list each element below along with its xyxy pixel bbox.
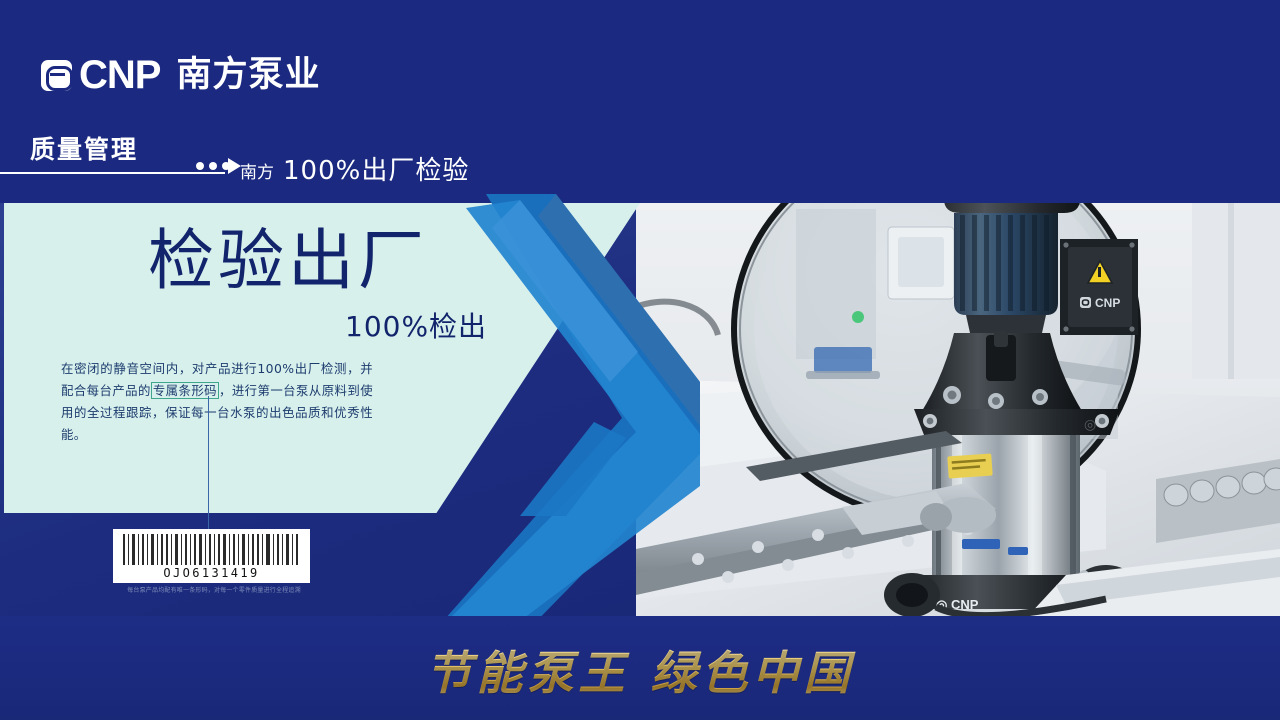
header-kicker: 100%出厂检验 xyxy=(283,150,469,187)
page-title: 检验出厂 xyxy=(148,228,428,294)
section-title: 质量管理 xyxy=(30,130,138,166)
barcode-bars-icon xyxy=(121,534,302,565)
brand-logo[interactable]: CNP 南方泵业 xyxy=(41,55,320,95)
svg-text:CNP: CNP xyxy=(1095,296,1120,310)
brand-latin-name: CNP xyxy=(79,55,160,95)
cnp-logo-icon xyxy=(41,60,72,91)
three-dots-icon xyxy=(196,162,230,170)
callout-connector-line xyxy=(208,396,209,533)
header-divider xyxy=(0,172,225,174)
barcode-number: OJO6131419 xyxy=(121,566,302,580)
brand-chinese-name: 南方泵业 xyxy=(176,58,320,93)
body-paragraph: 在密闭的静音空间内，对产品进行100%出厂检测，并配合每台产品的专属条形码，进行… xyxy=(61,358,373,446)
svg-text:◎: ◎ xyxy=(1084,416,1096,432)
barcode-card: OJO6131419 xyxy=(113,529,310,583)
slide-root: CNP ◎ xyxy=(0,0,1280,720)
footer-slogan: 节能泵王 绿色中国 xyxy=(0,637,1280,703)
barcode-caption: 每台泵产品均配有唯一条形码，对每一个零件质量进行全程追溯 xyxy=(116,585,312,594)
marker-label: 南方 xyxy=(240,158,274,183)
page-subtitle: 100%检出 xyxy=(345,305,487,345)
